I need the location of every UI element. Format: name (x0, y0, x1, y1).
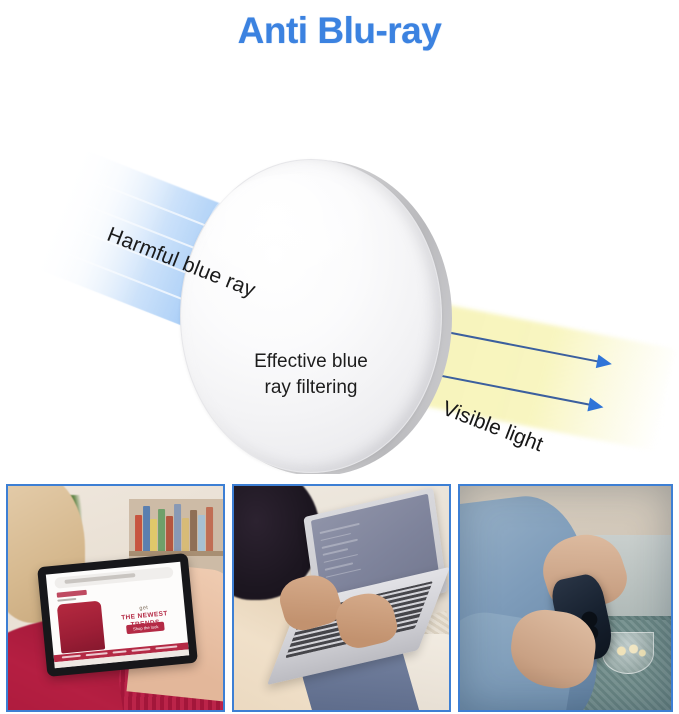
arrow-head-icon (596, 354, 613, 371)
page-title: Anti Blu-ray (238, 10, 442, 52)
lens-caption: Effective blue ray filtering (180, 349, 442, 401)
lens-caption-line-1: Effective blue (254, 351, 368, 372)
photo-laptop-typing (232, 484, 451, 712)
title-bar: Anti Blu-ray (0, 0, 679, 62)
tablet-screen: get THE NEWEST TRENDS Shop the look (46, 561, 190, 668)
arrow-head-icon (587, 398, 604, 415)
photo-game-controller (458, 484, 673, 712)
tablet-device: get THE NEWEST TRENDS Shop the look (37, 553, 197, 677)
lens-caption-line-2: ray filtering (265, 377, 358, 398)
anti-blue-light-lens-diagram: Effective blue ray filtering Harmful blu… (0, 62, 679, 474)
photo-strip: get THE NEWEST TRENDS Shop the look (0, 482, 679, 714)
photo-tablet-shopping: get THE NEWEST TRENDS Shop the look (6, 484, 225, 712)
